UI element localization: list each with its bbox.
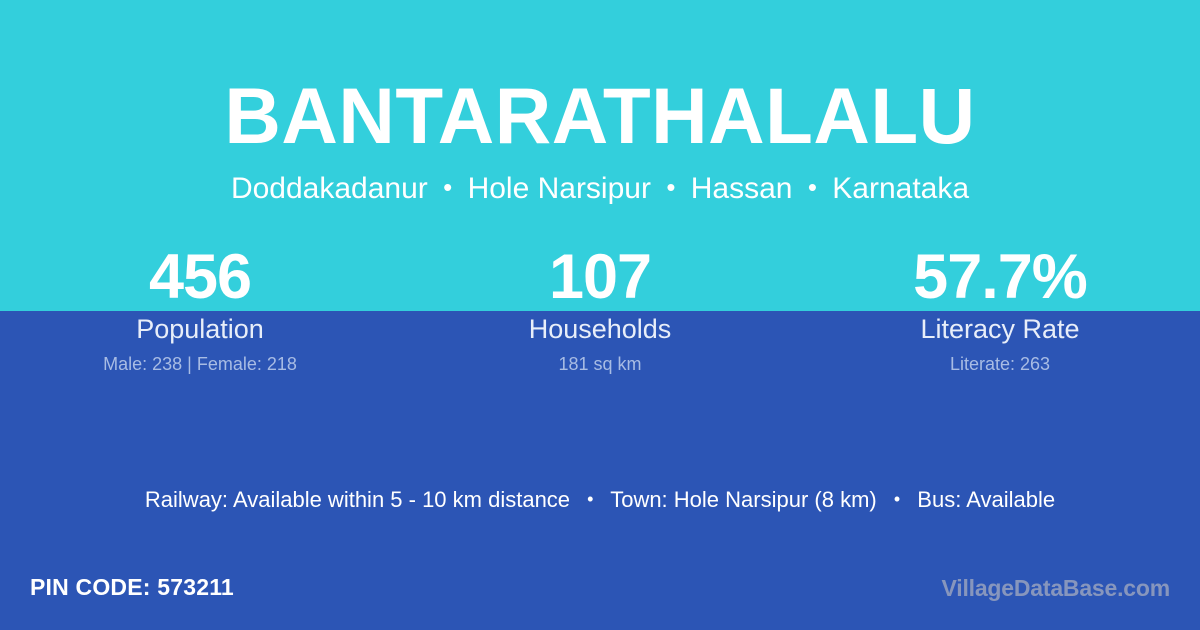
stat-population: 456 Population Male: 238 | Female: 218 xyxy=(0,243,400,375)
breadcrumb-separator-icon: • xyxy=(659,170,682,204)
stat-value: 57.7% xyxy=(800,243,1200,311)
facility-separator-icon: • xyxy=(883,484,911,514)
facility-bus: Bus: Available xyxy=(917,487,1055,512)
stat-households: 107 Households 181 sq km xyxy=(400,243,800,375)
stat-label: Households xyxy=(400,313,800,345)
stat-sublabel: Male: 238 | Female: 218 xyxy=(0,353,400,375)
breadcrumb-item-district: Hassan xyxy=(691,172,793,205)
stat-label: Literacy Rate xyxy=(800,313,1200,345)
village-info-card: BANTARATHALALU Doddakadanur • Hole Narsi… xyxy=(0,0,1200,630)
facility-separator-icon: • xyxy=(576,484,604,514)
facility-railway: Railway: Available within 5 - 10 km dist… xyxy=(145,487,570,512)
stat-value: 456 xyxy=(0,243,400,311)
card-header: BANTARATHALALU Doddakadanur • Hole Narsi… xyxy=(0,0,1200,206)
site-branding: VillageDataBase.com xyxy=(942,573,1170,603)
stats-row: 456 Population Male: 238 | Female: 218 1… xyxy=(0,243,1200,375)
facility-town: Town: Hole Narsipur (8 km) xyxy=(610,487,877,512)
stat-sublabel: 181 sq km xyxy=(400,353,800,375)
breadcrumb-item-taluk: Hole Narsipur xyxy=(468,172,651,205)
pin-code: PIN CODE: 573211 xyxy=(30,572,234,602)
breadcrumb: Doddakadanur • Hole Narsipur • Hassan • … xyxy=(0,156,1200,206)
breadcrumb-separator-icon: • xyxy=(801,170,824,204)
card-footer: PIN CODE: 573211 VillageDataBase.com xyxy=(0,558,1200,630)
stat-literacy-rate: 57.7% Literacy Rate Literate: 263 xyxy=(800,243,1200,375)
breadcrumb-item-subdistrict: Doddakadanur xyxy=(231,172,428,205)
stat-sublabel: Literate: 263 xyxy=(800,353,1200,375)
breadcrumb-separator-icon: • xyxy=(436,170,459,204)
stat-label: Population xyxy=(0,313,400,345)
page-title: BANTARATHALALU xyxy=(6,0,1194,156)
breadcrumb-item-state: Karnataka xyxy=(832,172,969,205)
stat-value: 107 xyxy=(400,243,800,311)
facilities-line: Railway: Available within 5 - 10 km dist… xyxy=(0,484,1200,515)
